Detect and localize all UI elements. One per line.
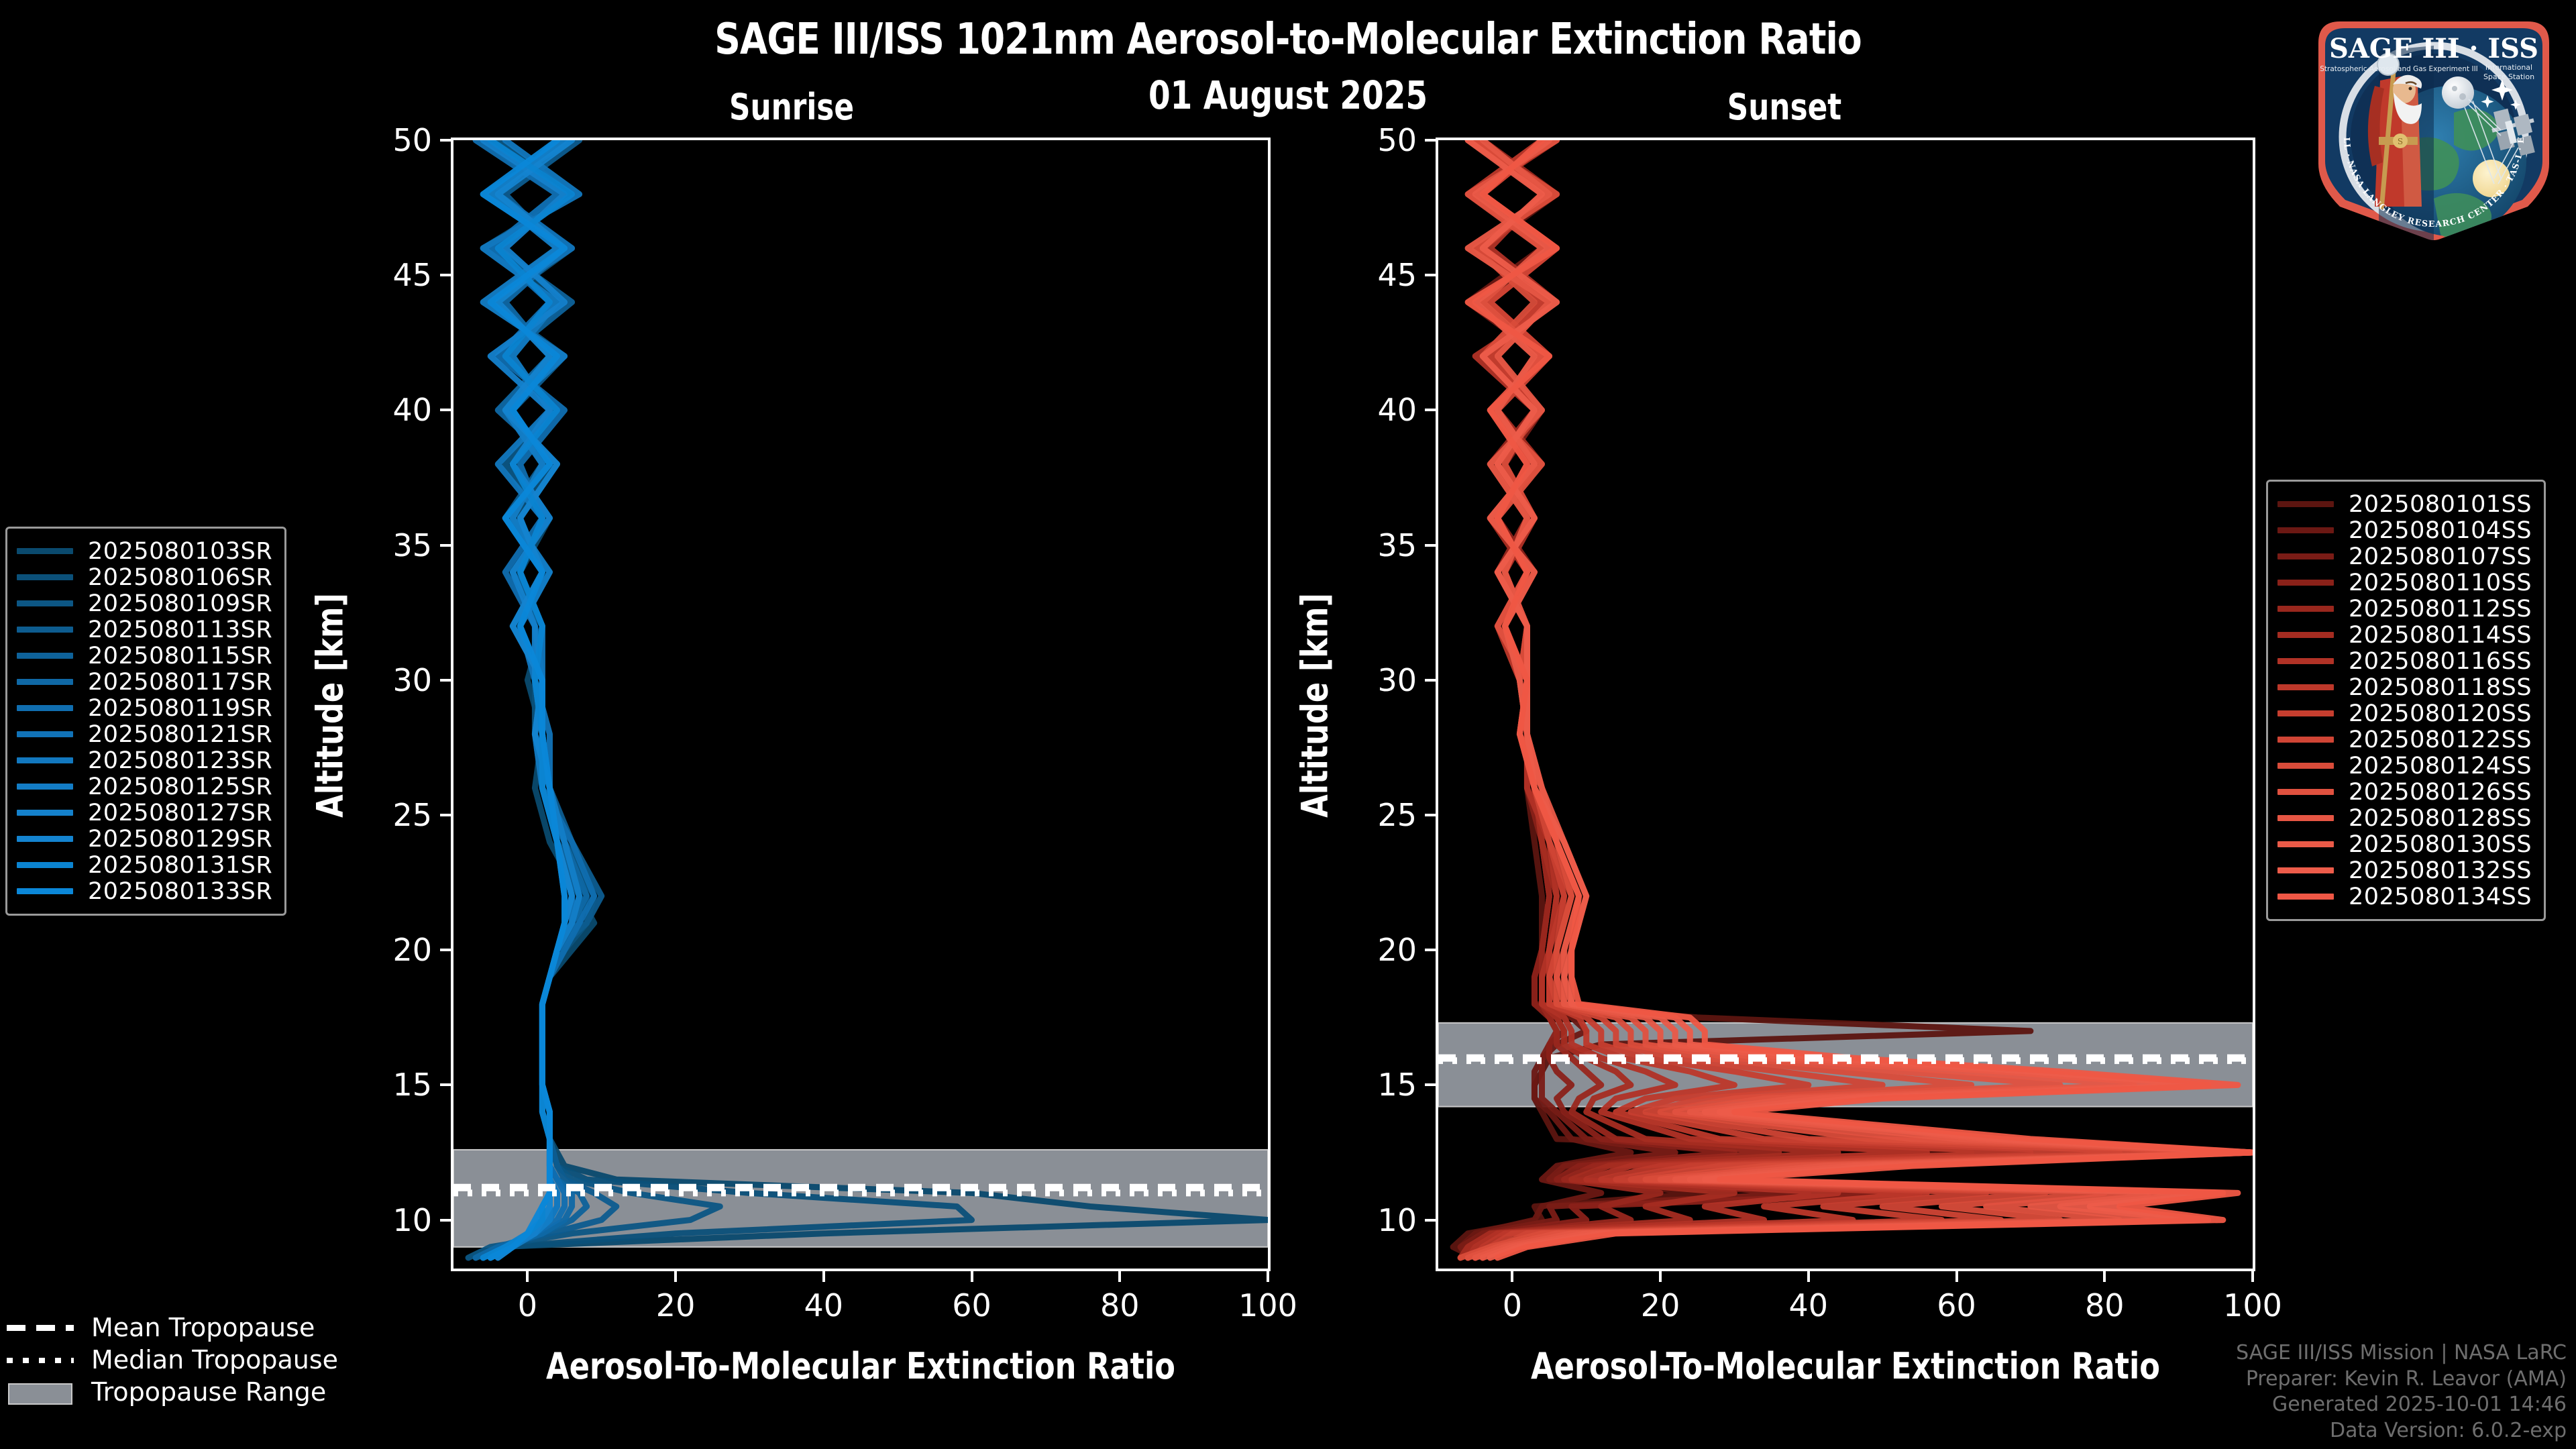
y-tick-label-25: 25 [346, 797, 432, 833]
legend-item-label: 2025080101SS [2349, 491, 2532, 518]
y-tick-label-20: 20 [1331, 932, 1417, 968]
legend-tropopause: Mean Tropopause Median Tropopause Tropop… [7, 1311, 338, 1408]
plot-panel-sunrise [451, 138, 1271, 1271]
x-tick-label-100: 100 [2223, 1287, 2282, 1324]
y-tick-label-40: 40 [346, 392, 432, 428]
legend-item-2025080109SR[interactable]: 2025080109SR [17, 590, 272, 616]
legend-item-2025080133SR[interactable]: 2025080133SR [17, 878, 272, 904]
x-tick-mark [822, 1269, 825, 1282]
y-tick-mark [440, 274, 453, 276]
legend-item-2025080115SR[interactable]: 2025080115SR [17, 643, 272, 669]
logo-subtitle-right-2: Space Station [2483, 72, 2534, 81]
legend-item-label: 2025080128SS [2349, 805, 2532, 832]
legend-color-swatch [17, 548, 73, 554]
legend-item-label: 2025080107SS [2349, 543, 2532, 570]
legend-item-2025080123SR[interactable]: 2025080123SR [17, 747, 272, 773]
y-tick-mark [440, 679, 453, 682]
legend-item-label: 2025080129SR [88, 826, 272, 853]
legend-item-label: 2025080122SS [2349, 727, 2532, 753]
moon-icon [2442, 76, 2474, 109]
y-tick-mark [440, 544, 453, 547]
y-tick-label-40: 40 [1331, 392, 1417, 428]
x-axis-title-sunset: Aerosol-To-Molecular Extinction Ratio [1468, 1345, 2222, 1387]
legend-color-swatch [17, 784, 73, 790]
x-tick-label-40: 40 [1789, 1287, 1829, 1324]
legend-item-label: 2025080116SS [2349, 648, 2532, 675]
legend-color-swatch [2277, 894, 2334, 900]
plot-panel-sunset [1436, 138, 2255, 1271]
footer-line-preparer: Preparer: Kevin R. Leavor (AMA) [2236, 1366, 2567, 1392]
x-tick-mark [526, 1269, 529, 1282]
legend-color-swatch [2277, 763, 2334, 769]
legend-color-swatch [17, 810, 73, 816]
x-tick-label-20: 20 [1641, 1287, 1680, 1324]
x-tick-label-20: 20 [656, 1287, 696, 1324]
y-axis-title-sunrise: Altitude [km] [309, 521, 352, 891]
legend-item-label: 2025080106SR [88, 564, 272, 591]
logo-subtitle-left: Stratospheric Aerosol and Gas Experiment… [2320, 65, 2478, 73]
legend-item-label: 2025080109SR [88, 590, 272, 617]
y-tick-mark [440, 409, 453, 411]
profile-line-2025080103SR [483, 140, 1268, 1258]
logo-title: SAGE III · ISS [2329, 33, 2538, 64]
legend-item-label: 2025080120SS [2349, 700, 2532, 727]
legend-color-swatch [17, 627, 73, 633]
y-tick-mark [440, 949, 453, 951]
y-tick-label-10: 10 [1331, 1202, 1417, 1238]
footer-line-mission: SAGE III/ISS Mission | NASA LaRC [2236, 1340, 2567, 1366]
legend-color-swatch [17, 757, 73, 763]
legend-item-2025080128SS[interactable]: 2025080128SS [2277, 805, 2532, 831]
legend-item-2025080112SS[interactable]: 2025080112SS [2277, 596, 2532, 622]
y-tick-mark [1425, 1083, 1438, 1086]
y-tick-label-15: 15 [1331, 1067, 1417, 1103]
y-tick-mark [1425, 544, 1438, 547]
legend-color-swatch [2277, 580, 2334, 586]
legend-row-mean-tropopause: Mean Tropopause [7, 1311, 338, 1344]
legend-item-2025080132SS[interactable]: 2025080132SS [2277, 857, 2532, 883]
legend-item-label: 2025080130SS [2349, 831, 2532, 858]
legend-item-2025080120SS[interactable]: 2025080120SS [2277, 700, 2532, 727]
y-tick-mark [1425, 814, 1438, 816]
legend-row-median-tropopause: Median Tropopause [7, 1344, 338, 1376]
y-tick-label-15: 15 [346, 1067, 432, 1103]
y-tick-label-35: 35 [346, 527, 432, 563]
x-axis-title-sunrise: Aerosol-To-Molecular Extinction Ratio [484, 1345, 1238, 1387]
x-tick-label-0: 0 [1503, 1287, 1522, 1324]
y-tick-label-45: 45 [346, 257, 432, 293]
legend-color-swatch [17, 653, 73, 659]
legend-item-2025080110SS[interactable]: 2025080110SS [2277, 570, 2532, 596]
panel-title-sunset: Sunset [1615, 86, 1953, 128]
y-tick-label-35: 35 [1331, 527, 1417, 563]
legend-color-swatch [2277, 684, 2334, 690]
y-tick-label-10: 10 [346, 1202, 432, 1238]
legend-item-label: 2025080121SR [88, 721, 272, 748]
y-tick-mark [1425, 274, 1438, 276]
legend-label-tropopause-range: Tropopause Range [91, 1377, 326, 1407]
x-tick-label-60: 60 [952, 1287, 991, 1324]
legend-color-swatch [17, 679, 73, 685]
legend-item-label: 2025080115SR [88, 643, 272, 669]
x-tick-label-60: 60 [1937, 1287, 1976, 1324]
legend-color-swatch [2277, 789, 2334, 795]
legend-color-swatch [2277, 632, 2334, 638]
x-tick-mark [971, 1269, 973, 1282]
legend-item-2025080106SR[interactable]: 2025080106SR [17, 564, 272, 590]
legend-item-2025080127SR[interactable]: 2025080127SR [17, 800, 272, 826]
legend-item-label: 2025080118SS [2349, 674, 2532, 701]
x-tick-label-100: 100 [1238, 1287, 1297, 1324]
legend-item-2025080113SR[interactable]: 2025080113SR [17, 616, 272, 643]
y-tick-label-50: 50 [1331, 122, 1417, 158]
x-tick-mark [2103, 1269, 2106, 1282]
x-tick-mark [1659, 1269, 1662, 1282]
x-tick-mark [1267, 1269, 1269, 1282]
legend-item-label: 2025080114SS [2349, 622, 2532, 649]
footer-line-data-version: Data Version: 6.0.2-exp [2236, 1418, 2567, 1444]
x-tick-mark [2251, 1269, 2254, 1282]
legend-color-swatch [2277, 710, 2334, 716]
y-tick-mark [440, 814, 453, 816]
legend-color-swatch [2277, 606, 2334, 612]
legend-item-2025080122SS[interactable]: 2025080122SS [2277, 727, 2532, 753]
legend-color-swatch [17, 705, 73, 711]
x-tick-mark [1118, 1269, 1121, 1282]
panel-title-sunrise: Sunrise [623, 86, 961, 128]
legend-color-swatch [17, 862, 73, 868]
legend-item-label: 2025080110SS [2349, 570, 2532, 596]
y-tick-label-25: 25 [1331, 797, 1417, 833]
legend-item-label: 2025080103SR [88, 538, 272, 565]
logo-subtitle-right-1: International [2485, 63, 2532, 72]
y-tick-label-20: 20 [346, 932, 432, 968]
legend-item-label: 2025080112SS [2349, 596, 2532, 623]
x-tick-mark [1807, 1269, 1810, 1282]
legend-item-label: 2025080126SS [2349, 779, 2532, 806]
legend-row-tropopause-range: Tropopause Range [7, 1376, 338, 1408]
legend-item-2025080130SS[interactable]: 2025080130SS [2277, 831, 2532, 857]
y-tick-mark [1425, 409, 1438, 411]
sage-iii-iss-mission-patch-logo: S BALL · NASA LANGLEY RESEARCH CENTER · … [2300, 5, 2568, 247]
legend-sunrise-events[interactable]: 2025080103SR2025080106SR2025080109SR2025… [5, 527, 286, 916]
legend-item-2025080131SR[interactable]: 2025080131SR [17, 852, 272, 878]
legend-item-2025080126SS[interactable]: 2025080126SS [2277, 779, 2532, 805]
legend-item-label: 2025080127SR [88, 800, 272, 826]
x-tick-label-80: 80 [1100, 1287, 1140, 1324]
legend-color-swatch [2277, 815, 2334, 821]
page-subtitle-date: 01 August 2025 [129, 72, 2447, 118]
legend-item-label: 2025080134SS [2349, 883, 2532, 910]
y-tick-mark [1425, 139, 1438, 142]
dotted-line-icon [7, 1350, 74, 1370]
footer-credits: SAGE III/ISS Mission | NASA LaRC Prepare… [2236, 1340, 2567, 1444]
legend-color-swatch [17, 888, 73, 894]
legend-color-swatch [2277, 553, 2334, 559]
svg-text:S: S [2398, 137, 2403, 146]
y-tick-label-30: 30 [346, 662, 432, 698]
legend-item-label: 2025080133SR [88, 878, 272, 905]
legend-color-swatch [2277, 867, 2334, 873]
legend-item-2025080107SS[interactable]: 2025080107SS [2277, 543, 2532, 570]
y-tick-label-30: 30 [1331, 662, 1417, 698]
legend-item-label: 2025080113SR [88, 616, 272, 643]
legend-item-label: 2025080123SR [88, 747, 272, 774]
legend-color-swatch [17, 731, 73, 737]
legend-item-2025080114SS[interactable]: 2025080114SS [2277, 622, 2532, 648]
legend-item-2025080134SS[interactable]: 2025080134SS [2277, 883, 2532, 910]
y-tick-label-45: 45 [1331, 257, 1417, 293]
filled-box-icon [7, 1382, 74, 1402]
x-tick-mark [1955, 1269, 1958, 1282]
legend-item-2025080129SR[interactable]: 2025080129SR [17, 826, 272, 852]
legend-item-2025080116SS[interactable]: 2025080116SS [2277, 648, 2532, 674]
dashed-line-icon [7, 1318, 74, 1338]
x-tick-mark [674, 1269, 677, 1282]
legend-label-median-tropopause: Median Tropopause [91, 1345, 338, 1375]
legend-label-mean-tropopause: Mean Tropopause [91, 1313, 315, 1342]
legend-item-2025080103SR[interactable]: 2025080103SR [17, 538, 272, 564]
y-tick-mark [440, 139, 453, 142]
legend-color-swatch [17, 574, 73, 580]
legend-color-swatch [2277, 501, 2334, 507]
legend-item-2025080117SR[interactable]: 2025080117SR [17, 669, 272, 695]
legend-item-2025080121SR[interactable]: 2025080121SR [17, 721, 272, 747]
x-tick-label-0: 0 [518, 1287, 537, 1324]
legend-item-label: 2025080124SS [2349, 753, 2532, 780]
x-tick-label-80: 80 [2085, 1287, 2125, 1324]
y-tick-mark [1425, 949, 1438, 951]
legend-item-label: 2025080104SS [2349, 517, 2532, 544]
x-tick-mark [1511, 1269, 1513, 1282]
legend-color-swatch [2277, 737, 2334, 743]
legend-item-label: 2025080125SR [88, 773, 272, 800]
legend-sunset-events[interactable]: 2025080101SS2025080104SS2025080107SS2025… [2266, 480, 2546, 921]
y-tick-mark [1425, 679, 1438, 682]
legend-color-swatch [2277, 527, 2334, 533]
legend-color-swatch [17, 836, 73, 842]
legend-item-2025080125SR[interactable]: 2025080125SR [17, 773, 272, 800]
legend-item-2025080119SR[interactable]: 2025080119SR [17, 695, 272, 721]
y-tick-mark [440, 1219, 453, 1222]
page-title: SAGE III/ISS 1021nm Aerosol-to-Molecular… [90, 15, 2485, 64]
legend-color-swatch [17, 600, 73, 606]
y-tick-label-50: 50 [346, 122, 432, 158]
legend-item-label: 2025080117SR [88, 669, 272, 696]
y-axis-title-sunset: Altitude [km] [1294, 521, 1336, 891]
legend-color-swatch [2277, 841, 2334, 847]
legend-item-2025080101SS[interactable]: 2025080101SS [2277, 491, 2532, 517]
legend-item-2025080104SS[interactable]: 2025080104SS [2277, 517, 2532, 543]
footer-line-generated: Generated 2025-10-01 14:46 [2236, 1392, 2567, 1417]
legend-color-swatch [2277, 658, 2334, 664]
y-tick-mark [1425, 1219, 1438, 1222]
x-tick-label-40: 40 [804, 1287, 844, 1324]
legend-item-label: 2025080119SR [88, 695, 272, 722]
y-tick-mark [440, 1083, 453, 1086]
legend-item-2025080118SS[interactable]: 2025080118SS [2277, 674, 2532, 700]
legend-item-label: 2025080131SR [88, 852, 272, 879]
legend-item-2025080124SS[interactable]: 2025080124SS [2277, 753, 2532, 779]
legend-item-label: 2025080132SS [2349, 857, 2532, 884]
